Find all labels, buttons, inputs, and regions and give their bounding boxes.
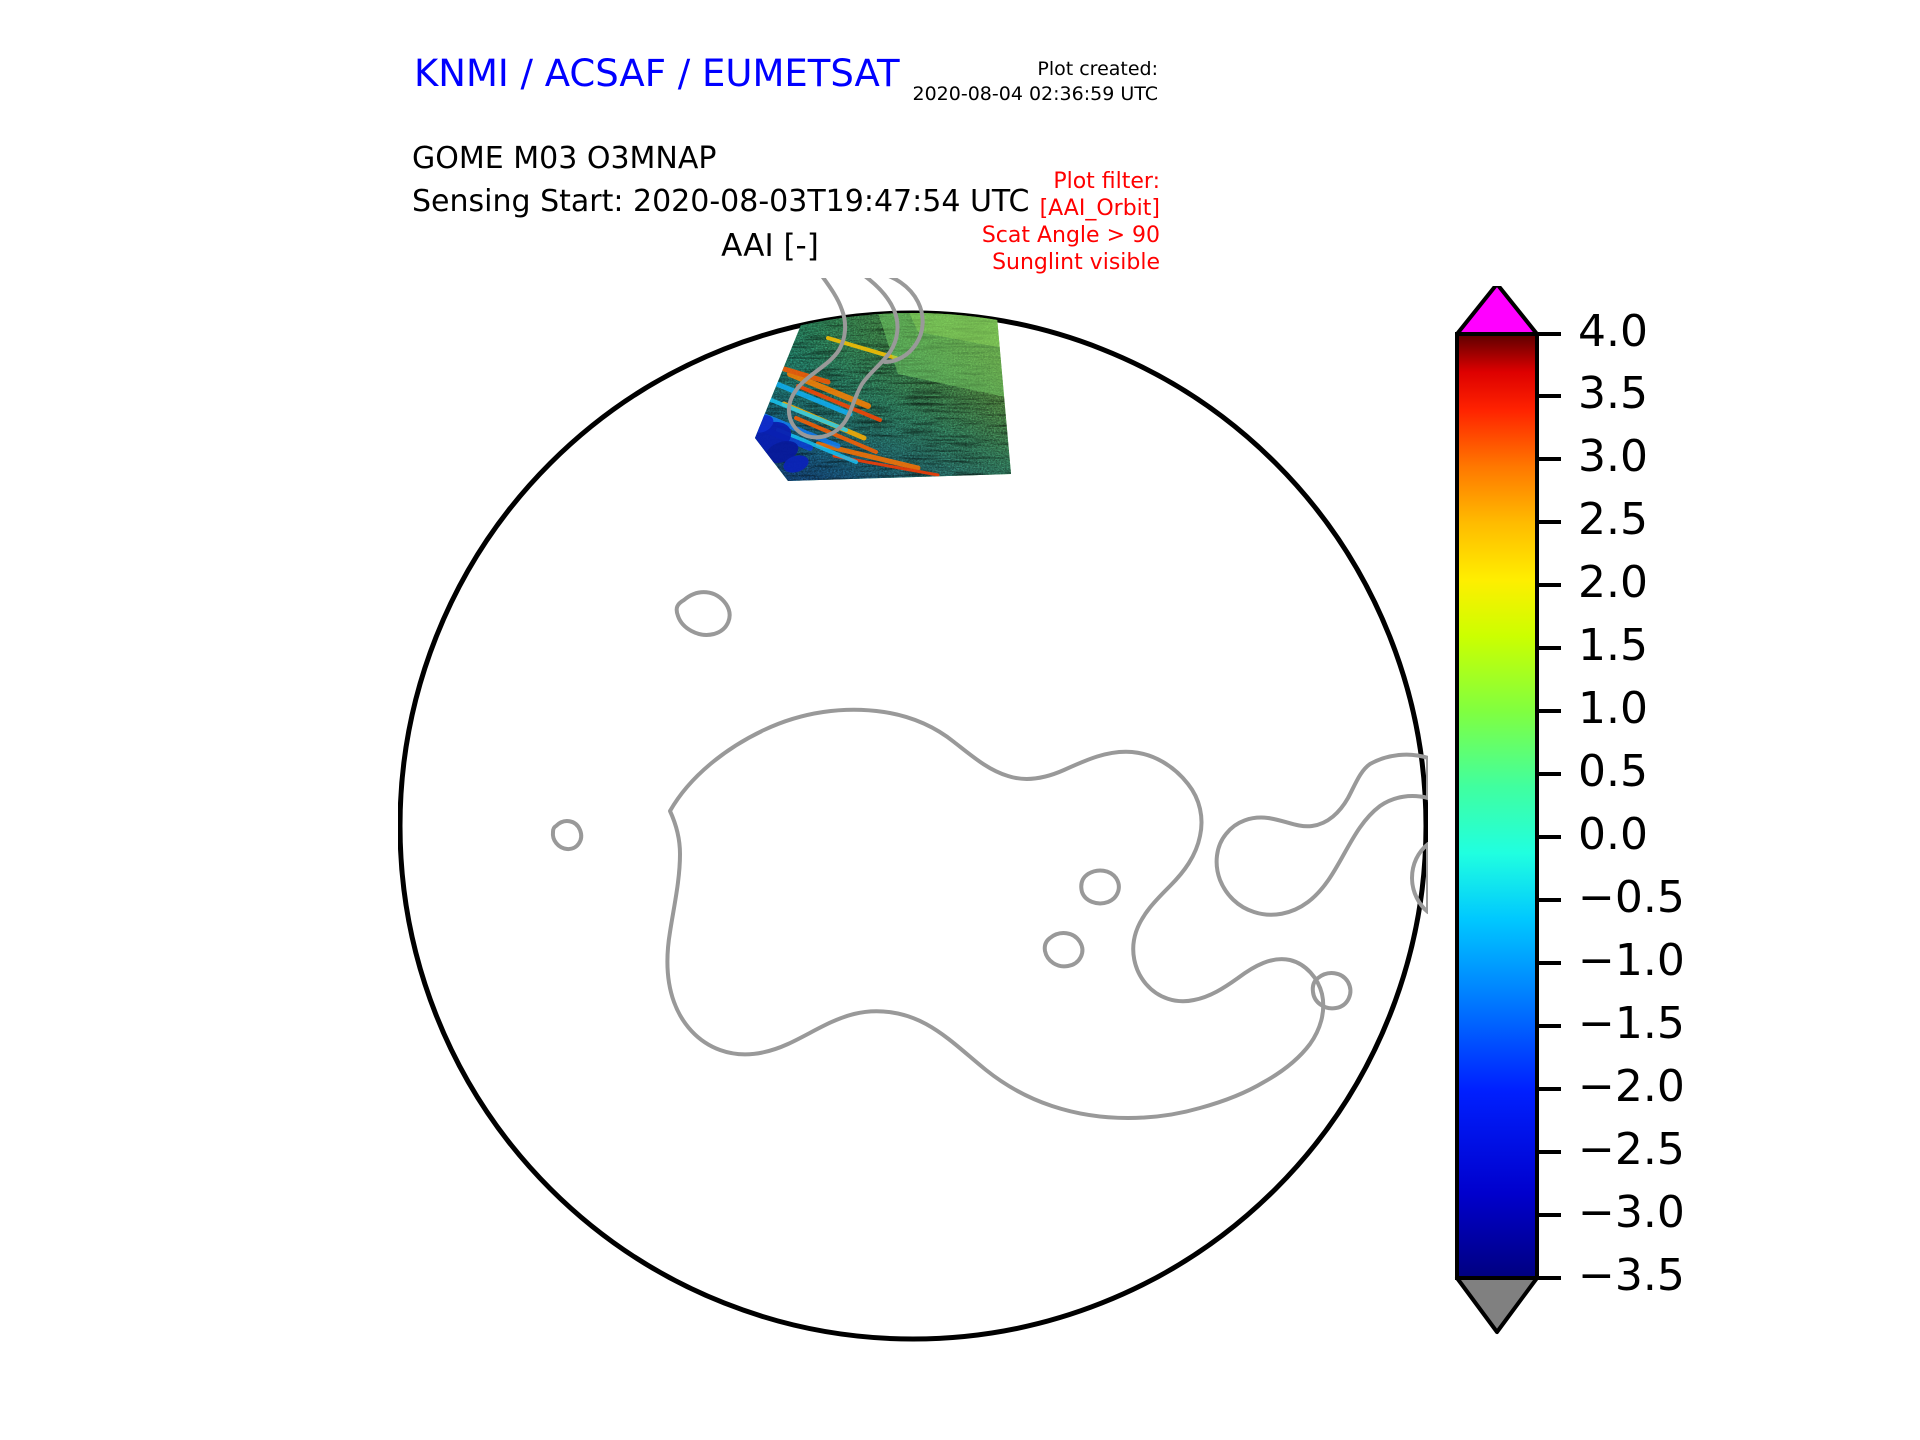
map-area <box>398 278 1428 1358</box>
colorbar-tick-label: −2.0 <box>1578 1061 1685 1112</box>
plot-created-block: Plot created: 2020-08-04 02:36:59 UTC <box>913 57 1159 107</box>
colorbar-tick-label: −3.0 <box>1578 1187 1685 1238</box>
plot-created-timestamp: 2020-08-04 02:36:59 UTC <box>913 82 1159 107</box>
aai-swath <box>738 278 1028 493</box>
plot-filter-name: [AAI_Orbit] <box>982 195 1160 222</box>
colorbar-tick-label: −2.5 <box>1578 1124 1685 1175</box>
colorbar-tick-label: 1.5 <box>1578 620 1648 671</box>
colorbar-tick-label: −1.0 <box>1578 935 1685 986</box>
colorbar-tick-label: 0.5 <box>1578 746 1648 797</box>
credit-line: KNMI / ACSAF / EUMETSAT <box>414 52 900 95</box>
plot-canvas: KNMI / ACSAF / EUMETSAT Plot created: 20… <box>0 0 1920 1440</box>
plot-filter-note: Sunglint visible <box>982 249 1160 276</box>
colorbar-under-arrow <box>1457 1278 1537 1332</box>
colorbar-tick-labels: 4.0 3.5 3.0 2.5 2.0 1.5 1.0 0.5 0.0 −0.5… <box>1578 306 1685 1301</box>
colorbar-tick-label: 0.0 <box>1578 809 1648 860</box>
colorbar-gradient <box>1457 334 1537 1278</box>
colorbar-tick-label: 4.0 <box>1578 306 1648 357</box>
plot-filter-block: Plot filter: [AAI_Orbit] Scat Angle > 90… <box>982 168 1160 276</box>
colorbar-tick-label: 3.0 <box>1578 431 1648 482</box>
colorbar-tick-label: 1.0 <box>1578 683 1648 734</box>
plot-filter-label: Plot filter: <box>982 168 1160 195</box>
colorbar-ticks <box>1537 334 1561 1278</box>
map-svg <box>398 278 1428 1358</box>
colorbar-tick-label: −0.5 <box>1578 872 1685 923</box>
dataset-name: GOME M03 O3MNAP <box>412 137 1029 180</box>
page-title: AAI [-] <box>0 228 1540 264</box>
colorbar-tick-label: 2.5 <box>1578 494 1648 545</box>
colorbar-tick-label: 3.5 <box>1578 368 1648 419</box>
colorbar-tick-label: 2.0 <box>1578 557 1648 608</box>
sensing-start: Sensing Start: 2020-08-03T19:47:54 UTC <box>412 180 1029 223</box>
colorbar: 4.0 3.5 3.0 2.5 2.0 1.5 1.0 0.5 0.0 −0.5… <box>1442 286 1802 1356</box>
colorbar-svg: 4.0 3.5 3.0 2.5 2.0 1.5 1.0 0.5 0.0 −0.5… <box>1442 286 1802 1356</box>
colorbar-over-arrow <box>1457 286 1537 334</box>
plot-created-label: Plot created: <box>913 57 1159 82</box>
colorbar-tick-label: −1.5 <box>1578 998 1685 1049</box>
colorbar-tick-label: −3.5 <box>1578 1250 1685 1301</box>
dataset-block: GOME M03 O3MNAP Sensing Start: 2020-08-0… <box>412 137 1029 223</box>
plot-filter-condition: Scat Angle > 90 <box>982 222 1160 249</box>
